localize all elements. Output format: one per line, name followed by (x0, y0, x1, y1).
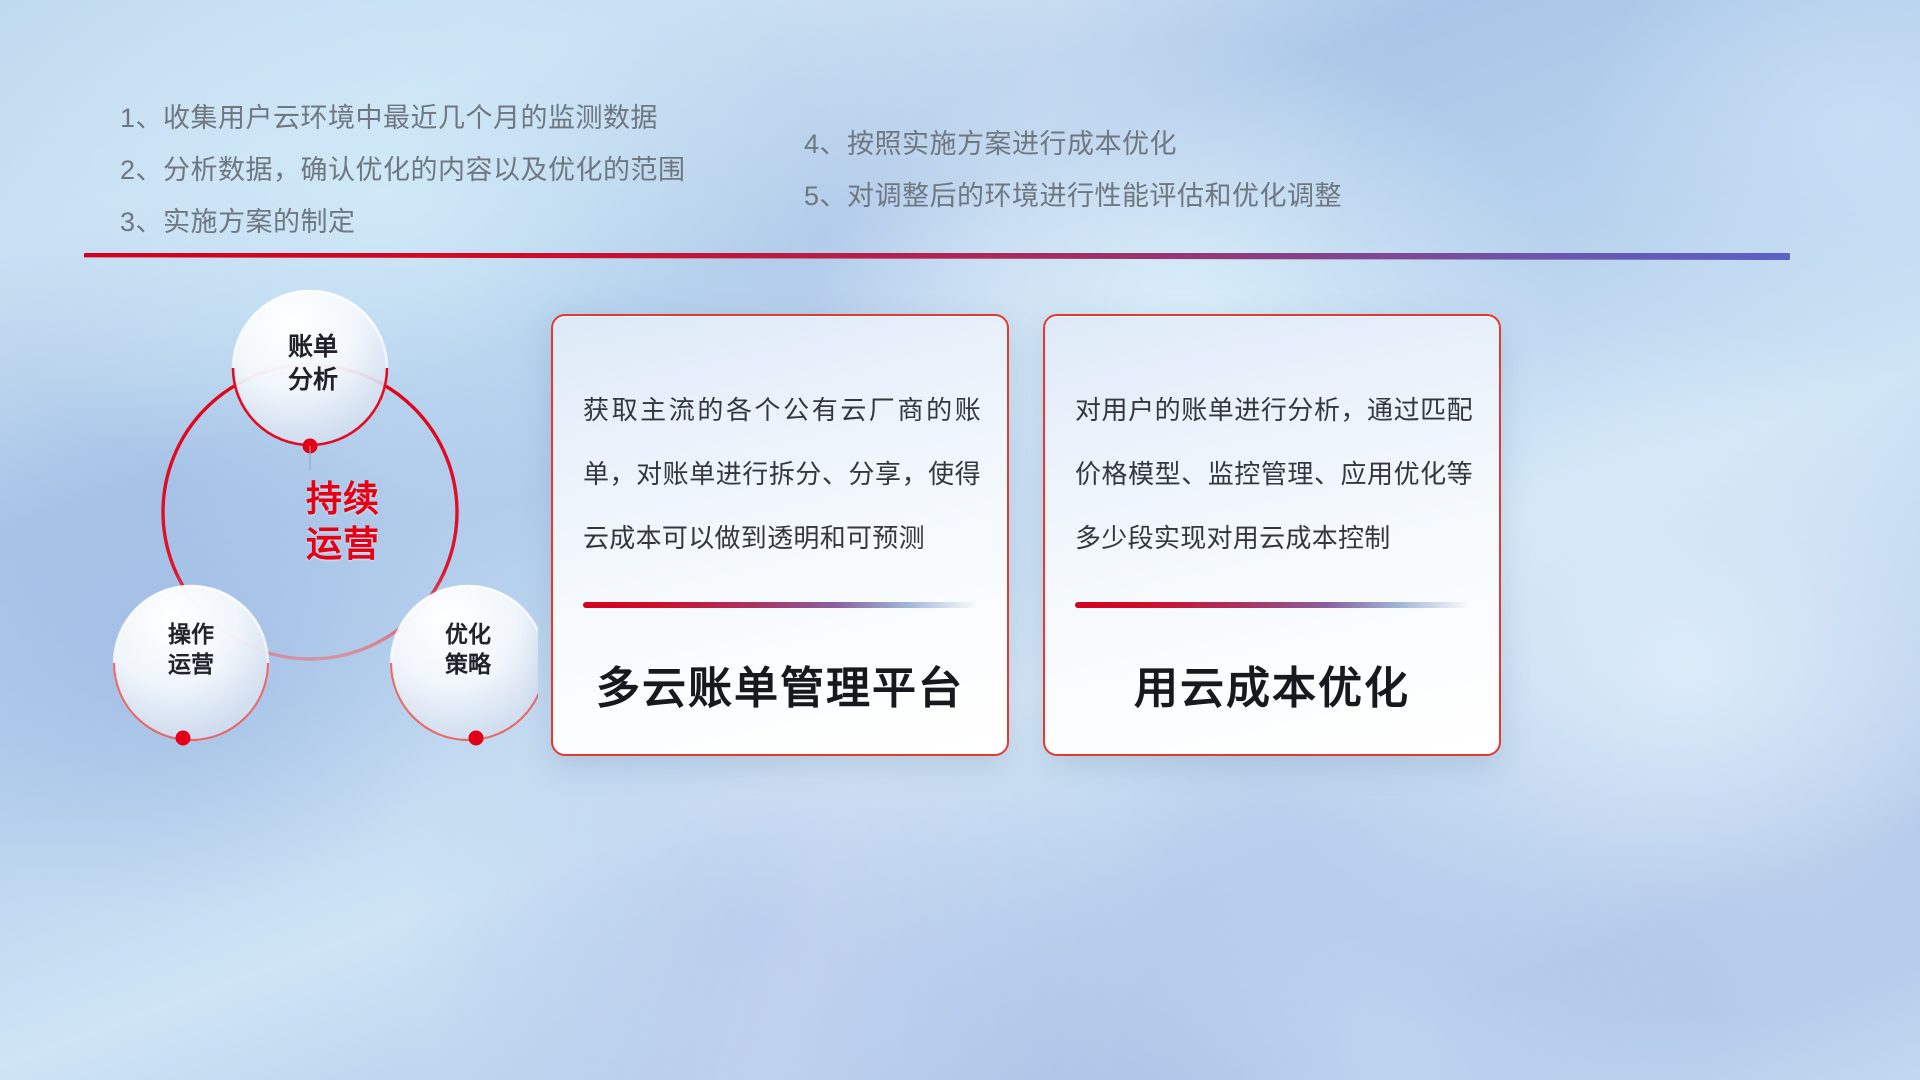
venn-diagram: 账单 分析 操作 运营 优化 策略 持续 运营 (78, 286, 538, 766)
venn-label-center: 持续 运营 (263, 476, 423, 567)
card-title: 用云成本优化 (1073, 652, 1471, 716)
steps-left-column: 1、收集用户云环境中最近几个月的监测数据 2、分析数据，确认优化的内容以及优化的… (120, 92, 686, 248)
card-body-text: 对用户的账单进行分析，通过匹配价格模型、监控管理、应用优化等多少段实现对用云成本… (1075, 378, 1473, 570)
venn-node-bottom-left (176, 731, 191, 746)
section-divider (84, 253, 1790, 260)
step-item-2: 2、分析数据，确认优化的内容以及优化的范围 (120, 144, 686, 196)
card-body-text: 获取主流的各个公有云厂商的账单，对账单进行拆分、分享，使得云成本可以做到透明和可… (583, 378, 981, 570)
card-title: 多云账单管理平台 (581, 652, 979, 716)
step-item-1: 1、收集用户云环境中最近几个月的监测数据 (120, 92, 686, 144)
steps-right-column: 4、按照实施方案进行成本优化 5、对调整后的环境进行性能评估和优化调整 (804, 118, 1342, 222)
card-multi-cloud-billing-platform[interactable]: 获取主流的各个公有云厂商的账单，对账单进行拆分、分享，使得云成本可以做到透明和可… (551, 314, 1009, 756)
step-item-5: 5、对调整后的环境进行性能评估和优化调整 (804, 170, 1342, 222)
card-divider (583, 602, 977, 608)
venn-node-bottom-right (469, 731, 484, 746)
step-item-4: 4、按照实施方案进行成本优化 (804, 118, 1342, 170)
card-cloud-cost-optimization[interactable]: 对用户的账单进行分析，通过匹配价格模型、监控管理、应用优化等多少段实现对用云成本… (1043, 314, 1501, 756)
card-divider (1075, 602, 1469, 608)
divider-bar (84, 253, 1790, 260)
step-item-3: 3、实施方案的制定 (120, 196, 686, 248)
